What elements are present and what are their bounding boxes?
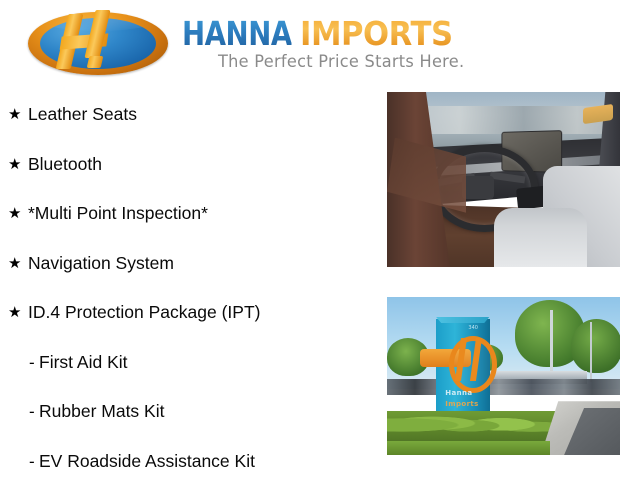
vehicle-interior-photo [387,92,620,267]
star-bullet-icon: ★ [8,256,28,271]
star-bullet-icon: ★ [8,107,28,122]
logo-h-foot [87,56,104,68]
parked-cars-row [387,379,620,395]
sign-address-number: 340 [462,325,485,331]
foreground-grass [387,441,550,455]
list-item-label: EV Roadside Assistance Kit [39,451,255,472]
sign-brand-line-2: Imports [445,400,489,408]
list-item-label: Navigation System [28,253,174,274]
list-item: - EV Roadside Assistance Kit [0,437,380,486]
dash-bullet-icon: - [29,354,39,371]
dash-bullet-icon: - [29,403,39,420]
seat-cushion-foreground [494,208,587,268]
list-item: ★ *Multi Point Inspection* [0,189,380,239]
list-item: ★ Navigation System [0,239,380,289]
sign-brand-line-1: Hanna [445,389,485,397]
star-bullet-icon: ★ [8,305,28,320]
list-item: ★ Leather Seats [0,90,380,140]
hanna-h-oval-logo-icon [28,12,168,75]
tree [571,319,620,373]
list-item: - Rubber Mats Kit [0,387,380,437]
list-item: ★ Bluetooth [0,140,380,190]
list-item-label: ID.4 Protection Package (IPT) [28,302,260,323]
brand-tagline: The Perfect Price Starts Here. [218,52,464,72]
star-bullet-icon: ★ [8,206,28,221]
light-pole [590,322,592,382]
list-item: - First Aid Kit [0,338,380,388]
dash-bullet-icon: - [29,453,39,470]
brand-wordmark-hanna: HANNA [182,14,292,53]
brand-wordmark: HANNAIMPORTS [182,14,464,53]
list-item-label: Leather Seats [28,104,137,125]
list-item: ★ ID.4 Protection Package (IPT) [0,288,380,338]
list-item-label: Rubber Mats Kit [39,401,164,422]
brand-wordmark-imports: IMPORTS [300,14,453,53]
list-item-label: Bluetooth [28,154,102,175]
dealer-header-banner: HANNAIMPORTS The Perfect Price Starts He… [0,0,640,88]
vehicle-feature-list: ★ Leather Seats ★ Bluetooth ★ *Multi Poi… [0,90,380,486]
list-item-label: First Aid Kit [39,352,128,373]
monument-sign-cap [436,317,490,323]
steering-wheel-hub [462,176,495,199]
star-bullet-icon: ★ [8,157,28,172]
dealership-sign-photo: 340 Hanna Imports [387,297,620,455]
list-item-label: *Multi Point Inspection* [28,203,208,224]
